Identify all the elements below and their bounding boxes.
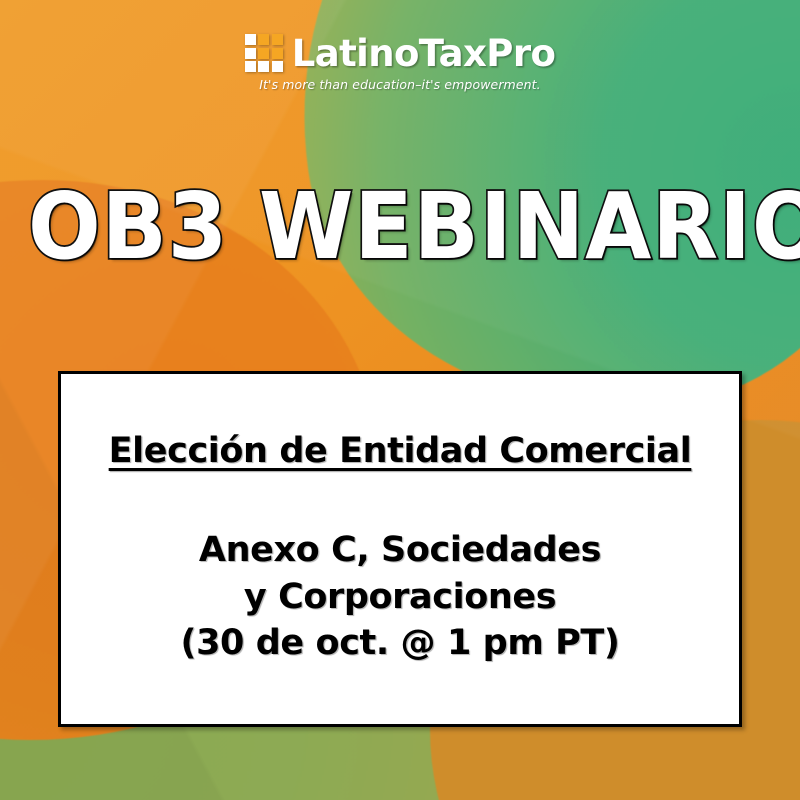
card-body: Anexo C, Sociedades y Corporaciones (30 …: [180, 527, 619, 667]
content-card: Elección de Entidad Comercial Anexo C, S…: [58, 371, 742, 727]
grid-cell: [272, 48, 283, 59]
grid-cell: [245, 61, 256, 72]
grid-cell: [258, 61, 269, 72]
brand-tagline: It's more than education–it's empowermen…: [259, 77, 540, 92]
grid-cell: [272, 61, 283, 72]
card-body-line-2: y Corporaciones: [180, 574, 619, 621]
card-body-line-1: Anexo C, Sociedades: [180, 527, 619, 574]
hero-title: OB3 WEBINARIO: [28, 181, 772, 273]
grid-cell: [258, 34, 269, 45]
grid-cell: [245, 34, 256, 45]
brand-header: LatinoTaxPro It's more than education–it…: [0, 34, 800, 92]
brand-name: LatinoTaxPro: [292, 35, 556, 72]
grid-cell: [245, 48, 256, 59]
brand-lockup: LatinoTaxPro: [245, 34, 556, 72]
promo-graphic-canvas: LatinoTaxPro It's more than education–it…: [0, 0, 800, 800]
grid-cell: [258, 48, 269, 59]
card-heading: Elección de Entidad Comercial: [109, 431, 692, 471]
grid-3x3-icon: [245, 34, 283, 72]
card-body-line-3: (30 de oct. @ 1 pm PT): [180, 620, 619, 667]
grid-cell: [272, 34, 283, 45]
